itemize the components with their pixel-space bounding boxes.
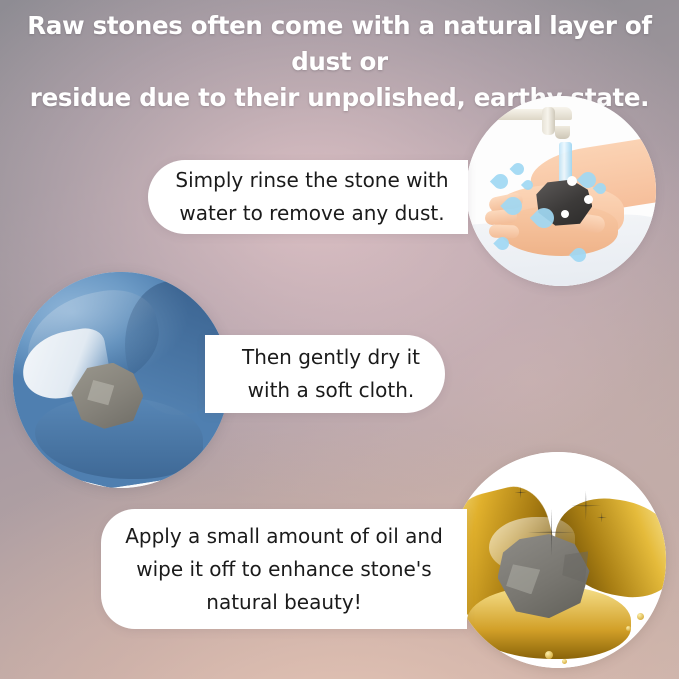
callout-rinse: Simply rinse the stone with water to rem… (148, 160, 468, 234)
step-image-dry (13, 272, 229, 488)
callout-dry: Then gently dry it with a soft cloth. (205, 335, 445, 413)
faucet-neck (542, 107, 555, 135)
sparkle-icon (515, 487, 527, 499)
cloth-illustration (13, 272, 229, 488)
sparkle-icon (528, 508, 576, 556)
foam-bubble (584, 195, 593, 204)
oil-illustration (450, 452, 666, 668)
rinse-illustration (466, 96, 656, 286)
step-image-oil (450, 452, 666, 668)
faucet-spout (555, 126, 570, 139)
foam-bubble (567, 176, 577, 186)
step-image-rinse (466, 96, 656, 286)
infographic-canvas: Raw stones often come with a natural lay… (0, 0, 679, 679)
callout-oil: Apply a small amount of oil and wipe it … (101, 509, 467, 629)
sparkle-icon (597, 512, 607, 522)
foam-bubble (561, 210, 569, 218)
